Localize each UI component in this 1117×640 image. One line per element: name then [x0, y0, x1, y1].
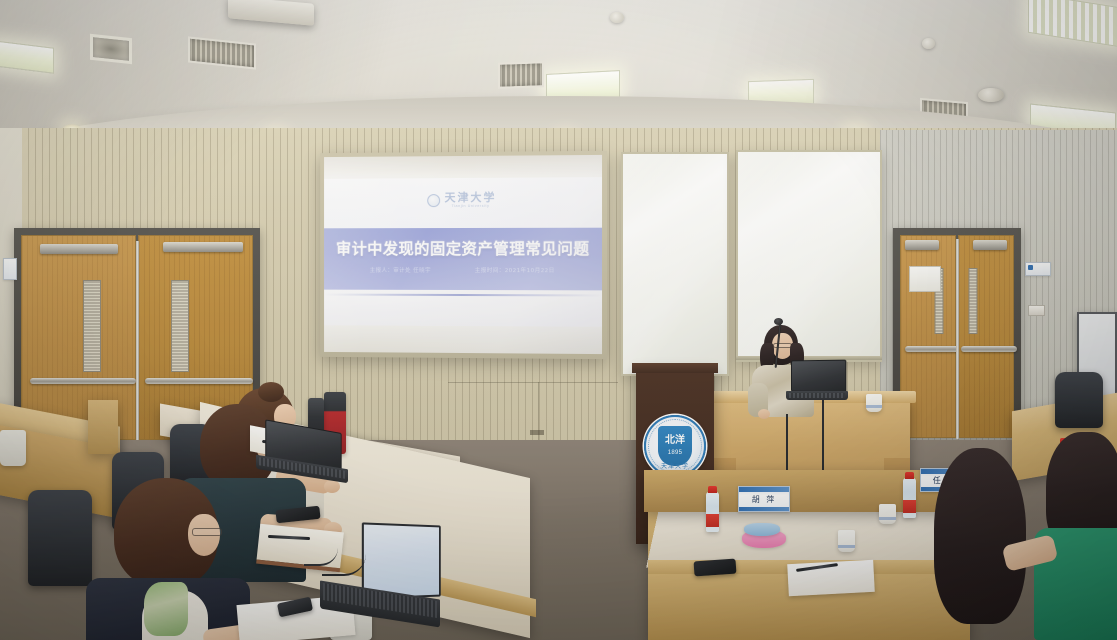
door-closer — [973, 240, 1007, 250]
door-notice — [909, 266, 941, 292]
water-bottle[interactable] — [903, 478, 916, 518]
university-logo: 天津大学 Tianjin University — [427, 192, 497, 209]
slide-divider — [324, 294, 602, 297]
cup-band — [879, 517, 896, 520]
door-closer — [40, 244, 118, 254]
exit-door-right[interactable] — [893, 228, 1021, 438]
emblem-chinese: 天津大学 — [646, 461, 704, 470]
slide-presenter: 主报人：审计处 任晓宇 — [370, 266, 431, 274]
podium-top — [632, 363, 718, 373]
door-vision-panel — [83, 280, 101, 372]
university-emblem: 北洋 1895 天津大学 — [644, 415, 706, 477]
door-vertical-rod — [956, 239, 959, 439]
door-leaf-left[interactable] — [21, 235, 136, 440]
door-push-bar[interactable] — [30, 378, 136, 384]
door-push-bar[interactable] — [961, 346, 1017, 352]
laptop-base[interactable] — [786, 391, 848, 400]
presenter-hand — [758, 409, 770, 419]
conference-room-photo: 天津大学 Tianjin University 审计中发现的固定资产管理常见问题… — [0, 0, 1117, 640]
bottle-label — [903, 500, 916, 513]
name-card-band — [739, 507, 789, 511]
laptop-lid — [791, 360, 846, 393]
paper-cup — [879, 504, 896, 524]
logo-english-name: Tianjin University — [452, 205, 490, 209]
hvac-vent — [90, 34, 132, 64]
slide-title: 审计中发现的固定资产管理常见问题 — [324, 237, 602, 259]
door-vertical-rod — [136, 241, 139, 441]
smartphone[interactable] — [694, 559, 737, 577]
university-seal-icon — [427, 194, 440, 207]
name-card-left: 胡 萍 — [738, 486, 790, 512]
attendee-hair-bun — [258, 382, 284, 402]
name-card-band — [739, 487, 789, 492]
laptop-keyboard[interactable] — [789, 393, 845, 398]
cabinet-handle[interactable] — [530, 430, 544, 435]
cabinet-seam — [448, 382, 618, 383]
bottle-label — [706, 514, 719, 527]
slide-meta-row: 主报人：审计处 任晓宇 主报时间：2021年10月22日 — [324, 266, 602, 274]
chair-right-rear[interactable] — [1055, 372, 1103, 428]
smoke-detector — [922, 38, 935, 49]
door-leaf-right[interactable] — [958, 235, 1014, 438]
attendee-hair — [934, 448, 1026, 624]
door-closer — [163, 242, 243, 252]
name-card-name: 胡 萍 — [752, 494, 777, 505]
door-push-bar[interactable] — [145, 378, 253, 384]
wall-notice-sign-left — [3, 258, 17, 280]
door-vision-panel — [171, 280, 189, 372]
water-bottle[interactable] — [706, 492, 719, 532]
chair-left-front[interactable] — [28, 490, 92, 586]
door-push-bar[interactable] — [905, 346, 959, 352]
travel-mug[interactable] — [0, 430, 26, 466]
attendee-scarf-green — [144, 582, 188, 636]
logo-chinese-name: 天津大学 — [445, 192, 497, 203]
smoke-detector — [610, 12, 624, 23]
paper-cup — [866, 394, 882, 412]
slide-header-area: 天津大学 Tianjin University — [324, 177, 602, 228]
slide-date: 主报时间：2021年10月22日 — [475, 266, 555, 274]
attendee-front-left — [100, 478, 250, 640]
projection-surface: 天津大学 Tianjin University 审计中发现的固定资产管理常见问题… — [324, 155, 602, 354]
left-desk-divider — [88, 400, 118, 454]
microphone-head-icon — [774, 318, 783, 325]
bottle-cap — [708, 486, 717, 493]
door-closer — [905, 240, 939, 250]
whiteboard-left — [621, 152, 729, 376]
cup-band — [838, 545, 855, 548]
attendee-right-green — [1040, 432, 1117, 640]
whiteboard-glare — [623, 154, 727, 374]
face-mask-blue — [744, 523, 780, 536]
projection-screen: 天津大学 Tianjin University 审计中发现的固定资产管理常见问题… — [320, 151, 607, 359]
presentation-slide: 天津大学 Tianjin University 审计中发现的固定资产管理常见问题… — [324, 177, 602, 327]
attendee-glasses — [192, 528, 222, 536]
wall-notice-sign — [1025, 262, 1051, 276]
ceiling-speaker — [978, 88, 1004, 102]
light-switch-plate[interactable] — [1028, 305, 1045, 316]
slide-title-band: 审计中发现的固定资产管理常见问题 主报人：审计处 任晓宇 主报时间：2021年1… — [324, 228, 602, 291]
sign-icon — [1028, 265, 1033, 270]
bottle-cap — [905, 472, 914, 479]
door-vision-panel — [969, 268, 978, 334]
slide-footer-area — [324, 298, 602, 327]
paper-cup — [838, 530, 855, 552]
cup-band — [866, 405, 882, 408]
hvac-vent — [498, 61, 544, 89]
